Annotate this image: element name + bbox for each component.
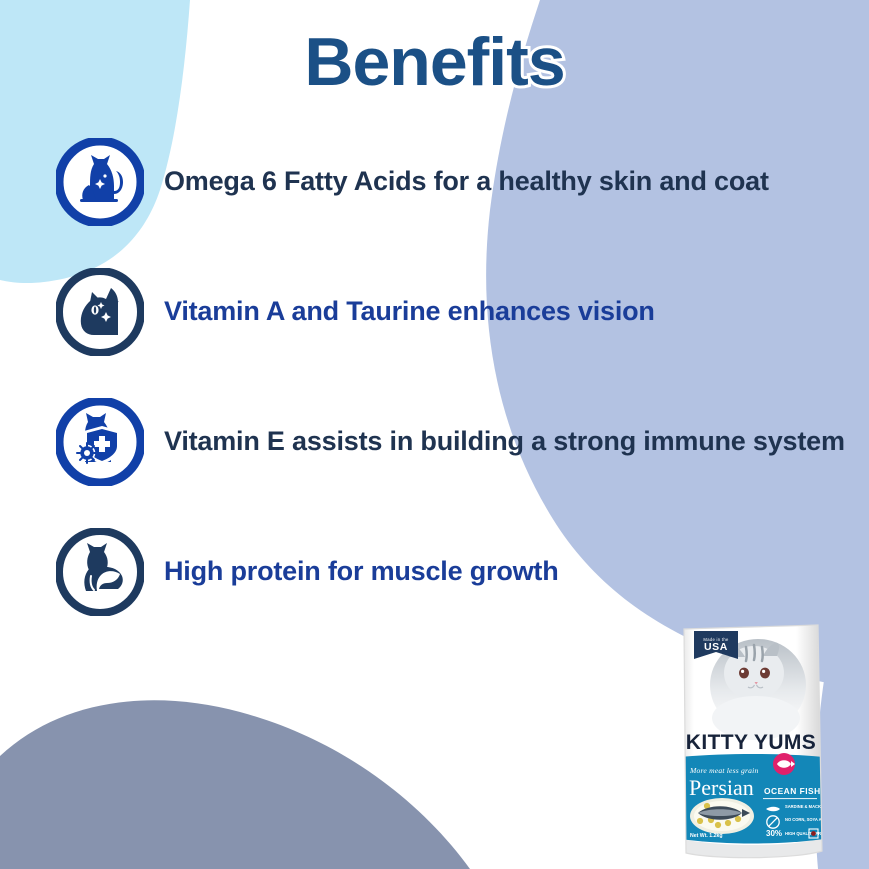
page-title: Benefits	[0, 28, 869, 96]
product-flavour: OCEAN FISH	[764, 786, 821, 796]
food-bowl-illustration	[690, 798, 754, 834]
benefit-label: Omega 6 Fatty Acids for a healthy skin a…	[164, 167, 769, 197]
bag-label-panel: More meat less grain Persian OCEAN FISH	[680, 753, 826, 844]
feature-label: SARDINE & MACKEREL	[785, 804, 826, 809]
cat-eye-sparkle-icon	[56, 268, 144, 356]
cat-shield-immunity-icon	[56, 398, 144, 486]
bottom-wave-shape	[0, 700, 470, 869]
origin-badge-label: USA	[704, 641, 728, 653]
benefit-label: Vitamin A and Taurine enhances vision	[164, 297, 655, 327]
benefit-label: High protein for muscle growth	[164, 557, 559, 587]
benefit-row: Vitamin A and Taurine enhances vision	[56, 268, 856, 356]
benefit-label: Vitamin E assists in building a strong i…	[164, 427, 845, 457]
benefits-infographic: Benefits	[0, 0, 869, 869]
benefit-row: High protein for muscle growth	[56, 528, 856, 616]
feature-label: NO CORN, SOYA AND WHEAT	[785, 817, 826, 822]
net-weight: Net Wt. 1.2kg	[690, 833, 723, 839]
protein-value: 30%	[766, 829, 782, 838]
cat-muscle-icon	[56, 528, 144, 616]
feature-label: HIGH QUALITY PROTEIN	[785, 831, 826, 836]
brand-name: KITTY YUMS	[686, 731, 816, 754]
benefit-row: Omega 6 Fatty Acids for a healthy skin a…	[56, 138, 856, 226]
cat-sitting-icon	[56, 138, 144, 226]
product-variant: Persian	[689, 775, 754, 800]
benefit-row: Vitamin E assists in building a strong i…	[56, 398, 856, 486]
product-tagline: More meat less grain	[689, 766, 758, 775]
product-package[interactable]: Made in the USA KITTY YUMS More meat les…	[676, 623, 826, 861]
